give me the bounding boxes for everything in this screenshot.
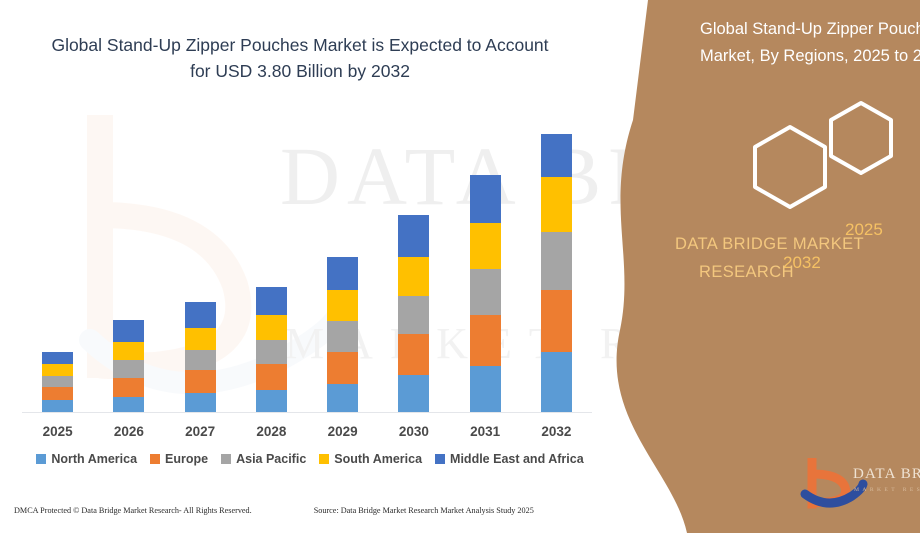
chart-panel: Global Stand-Up Zipper Pouches Market is… [0, 0, 640, 533]
bar-stack [185, 302, 216, 412]
legend-swatch-icon [221, 454, 231, 464]
bar-segment-middle-east-and-africa [113, 320, 144, 342]
bar-segment-north-america [470, 366, 501, 412]
brand-panel-title: Global Stand-Up Zipper Pouches Market, B… [700, 16, 920, 70]
bar-segment-europe [256, 364, 287, 390]
legend-swatch-icon [150, 454, 160, 464]
bar-column-2030 [378, 120, 449, 412]
legend-item-south-america[interactable]: South America [319, 452, 422, 466]
legend-label: South America [334, 452, 422, 466]
legend-label: North America [51, 452, 137, 466]
x-axis-labels: 20252026202720282029203020312032 [22, 424, 592, 439]
bar-segment-south-america [541, 177, 572, 232]
page-title: Global Stand-Up Zipper Pouches Market is… [0, 32, 600, 84]
company-name: DATA BRIDGE MARKET RESEARCH [675, 230, 920, 286]
bar-stack [398, 215, 429, 412]
chart-baseline [22, 412, 592, 413]
x-axis-tick-2030: 2030 [378, 424, 449, 439]
bar-segment-north-america [185, 393, 216, 412]
hexagon-group: 2032 2025 [745, 95, 920, 215]
legend-swatch-icon [435, 454, 445, 464]
bar-segment-europe [113, 378, 144, 397]
bar-segment-asia-pacific [327, 321, 358, 352]
bar-segment-asia-pacific [185, 350, 216, 370]
bar-column-2027 [165, 120, 236, 412]
bar-segment-asia-pacific [398, 296, 429, 334]
bar-segment-middle-east-and-africa [42, 352, 73, 364]
brand-panel-title-line-2: Market, By Regions, 2025 to 2032 [700, 43, 920, 70]
bar-segment-south-america [470, 223, 501, 270]
logo-wordmark: DATA BRIDGE [853, 466, 920, 483]
bar-stack [113, 320, 144, 412]
bar-column-2025 [22, 120, 93, 412]
bar-segment-middle-east-and-africa [541, 134, 572, 177]
bar-segment-europe [398, 334, 429, 376]
bar-stack [327, 257, 358, 412]
bar-segment-south-america [42, 364, 73, 376]
bar-segment-europe [541, 290, 572, 352]
company-name-line-2: RESEARCH [675, 258, 920, 286]
legend-label: Europe [165, 452, 208, 466]
stacked-bar-chart [22, 120, 592, 412]
x-axis-tick-2028: 2028 [236, 424, 307, 439]
bar-segment-north-america [327, 384, 358, 412]
bar-segment-south-america [113, 342, 144, 360]
x-axis-tick-2026: 2026 [93, 424, 164, 439]
footer: DMCA Protected © Data Bridge Market Rese… [14, 506, 614, 515]
bar-segment-middle-east-and-africa [470, 175, 501, 223]
bar-segment-north-america [398, 375, 429, 412]
bar-column-2026 [93, 120, 164, 412]
brand-panel-content: Global Stand-Up Zipper Pouches Market, B… [595, 0, 920, 533]
bar-segment-europe [470, 315, 501, 365]
bar-segment-middle-east-and-africa [327, 257, 358, 290]
logo-tagline: MARKET RESEARCH [854, 487, 920, 493]
legend-swatch-icon [319, 454, 329, 464]
legend-item-middle-east-and-africa[interactable]: Middle East and Africa [435, 452, 584, 466]
footer-dmca-notice: DMCA Protected © Data Bridge Market Rese… [14, 506, 252, 515]
bar-segment-middle-east-and-africa [398, 215, 429, 257]
chart-legend: North AmericaEuropeAsia PacificSouth Ame… [14, 452, 606, 466]
bar-segment-europe [327, 352, 358, 384]
x-axis-tick-2027: 2027 [165, 424, 236, 439]
bar-segment-asia-pacific [113, 360, 144, 378]
bar-stack [256, 287, 287, 412]
legend-item-north-america[interactable]: North America [36, 452, 137, 466]
company-name-line-1: DATA BRIDGE MARKET [675, 230, 920, 258]
x-axis-tick-2025: 2025 [22, 424, 93, 439]
hexagon-outlines-icon [745, 95, 920, 215]
bar-segment-europe [42, 387, 73, 400]
bar-segment-asia-pacific [42, 376, 73, 387]
brand-panel: Global Stand-Up Zipper Pouches Market, B… [595, 0, 920, 533]
bar-column-2032 [521, 120, 592, 412]
bar-segment-south-america [398, 257, 429, 296]
bar-column-2028 [236, 120, 307, 412]
bar-segment-asia-pacific [256, 340, 287, 364]
legend-item-asia-pacific[interactable]: Asia Pacific [221, 452, 306, 466]
bar-segment-north-america [113, 397, 144, 412]
page-title-line-1: Global Stand-Up Zipper Pouches Market is… [0, 32, 600, 58]
legend-label: Asia Pacific [236, 452, 306, 466]
bar-stack [541, 134, 572, 412]
bar-column-2031 [450, 120, 521, 412]
bar-segment-asia-pacific [470, 269, 501, 315]
infographic-canvas: DATA BRIDGE MARKET RESEARCH Global Stand… [0, 0, 920, 533]
bar-segment-europe [185, 370, 216, 393]
brand-panel-title-line-1: Global Stand-Up Zipper Pouches [700, 16, 920, 43]
bar-stack [470, 175, 501, 412]
footer-source-note: Source: Data Bridge Market Research Mark… [314, 506, 534, 515]
bar-segment-north-america [541, 352, 572, 412]
bar-segment-middle-east-and-africa [256, 287, 287, 315]
legend-swatch-icon [36, 454, 46, 464]
x-axis-tick-2031: 2031 [450, 424, 521, 439]
bar-stack [42, 352, 73, 412]
bar-segment-north-america [42, 400, 73, 412]
bar-segment-south-america [256, 315, 287, 341]
bar-segment-south-america [327, 290, 358, 321]
x-axis-tick-2032: 2032 [521, 424, 592, 439]
legend-label: Middle East and Africa [450, 452, 584, 466]
bar-segment-south-america [185, 328, 216, 350]
bar-segment-asia-pacific [541, 232, 572, 290]
x-axis-tick-2029: 2029 [307, 424, 378, 439]
bar-segment-north-america [256, 390, 287, 412]
legend-item-europe[interactable]: Europe [150, 452, 208, 466]
bar-segment-middle-east-and-africa [185, 302, 216, 328]
bar-column-2029 [307, 120, 378, 412]
page-title-line-2: for USD 3.80 Billion by 2032 [0, 58, 600, 84]
